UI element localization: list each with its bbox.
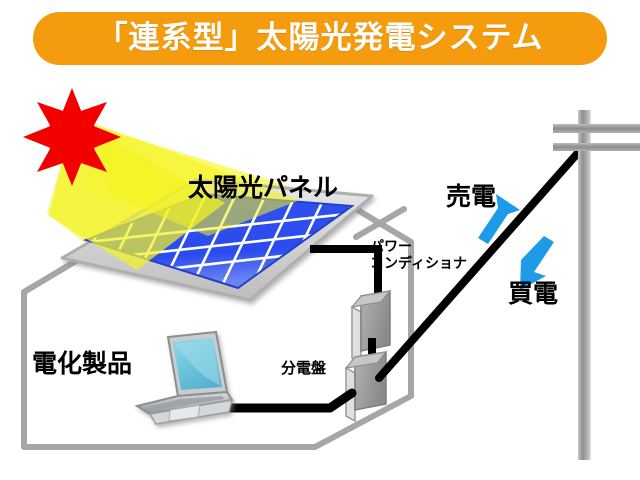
label-power-conditioner: パワー コンディショナ — [370, 238, 467, 272]
label-power-conditioner-line2: コンディショナ — [370, 255, 467, 272]
label-solar-panel: 太陽光パネル — [188, 176, 338, 201]
label-power-conditioner-line1: パワー — [370, 238, 467, 255]
sun-icon — [23, 88, 121, 186]
page-title: 「連系型」太陽光発電システム — [0, 16, 640, 60]
label-buy-electricity: 買電 — [508, 282, 558, 307]
label-appliances: 電化製品 — [32, 352, 132, 377]
label-distribution-board: 分電盤 — [281, 361, 326, 376]
cable-laptop-to-board — [228, 393, 352, 408]
solar-system-diagram — [0, 0, 640, 480]
label-sell-electricity: 売電 — [446, 185, 496, 210]
diagram-canvas: 「連系型」太陽光発電システム 太陽光パネル パワー コンディショナ 分電盤 電化… — [0, 0, 640, 480]
laptop-icon — [137, 332, 232, 424]
